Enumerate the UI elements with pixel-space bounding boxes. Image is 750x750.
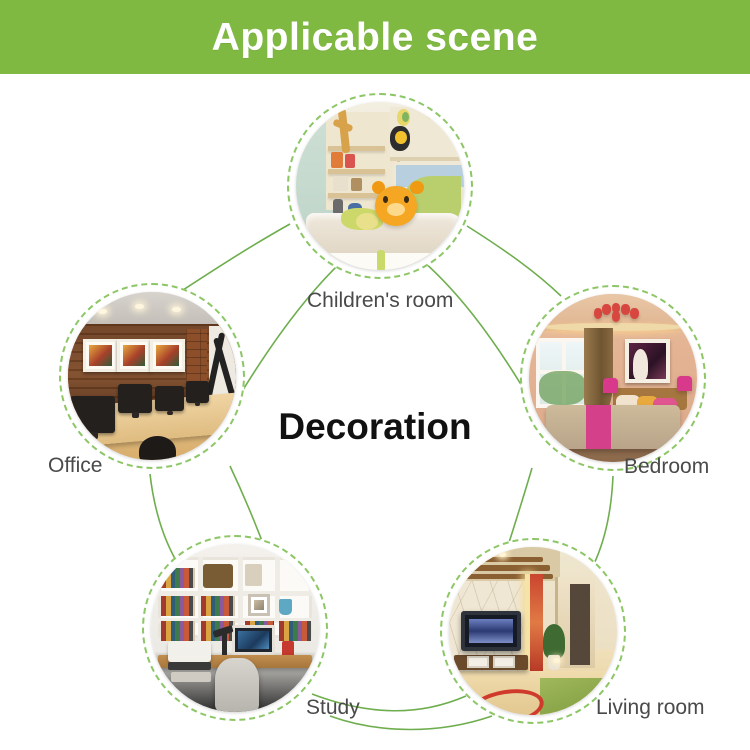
scene-node-office[interactable] (59, 283, 245, 469)
scene-label-study: Study (306, 697, 360, 718)
study-photo (151, 544, 319, 712)
scene-label-living: Living room (596, 697, 705, 718)
arc-children-bedroom (467, 226, 561, 296)
bedroom-photo (529, 294, 697, 462)
applicable-scene-page: Applicable scene Decoration (0, 0, 750, 750)
children-room-photo (296, 102, 464, 270)
living-room-photo (449, 547, 617, 715)
scene-diagram: Decoration (0, 74, 750, 750)
scene-label-office: Office (48, 455, 102, 476)
scene-label-bedroom: Bedroom (624, 456, 709, 477)
scene-label-children: Children's room (307, 290, 453, 311)
arc-inner-office-children (232, 252, 352, 408)
arc-inner-children-bedroom (410, 250, 528, 396)
page-title: Applicable scene (212, 18, 539, 57)
scene-node-bedroom[interactable] (520, 285, 706, 471)
header-band: Applicable scene (0, 0, 750, 74)
office-photo (68, 292, 236, 460)
scene-node-children[interactable] (287, 93, 473, 279)
scene-node-study[interactable] (142, 535, 328, 721)
